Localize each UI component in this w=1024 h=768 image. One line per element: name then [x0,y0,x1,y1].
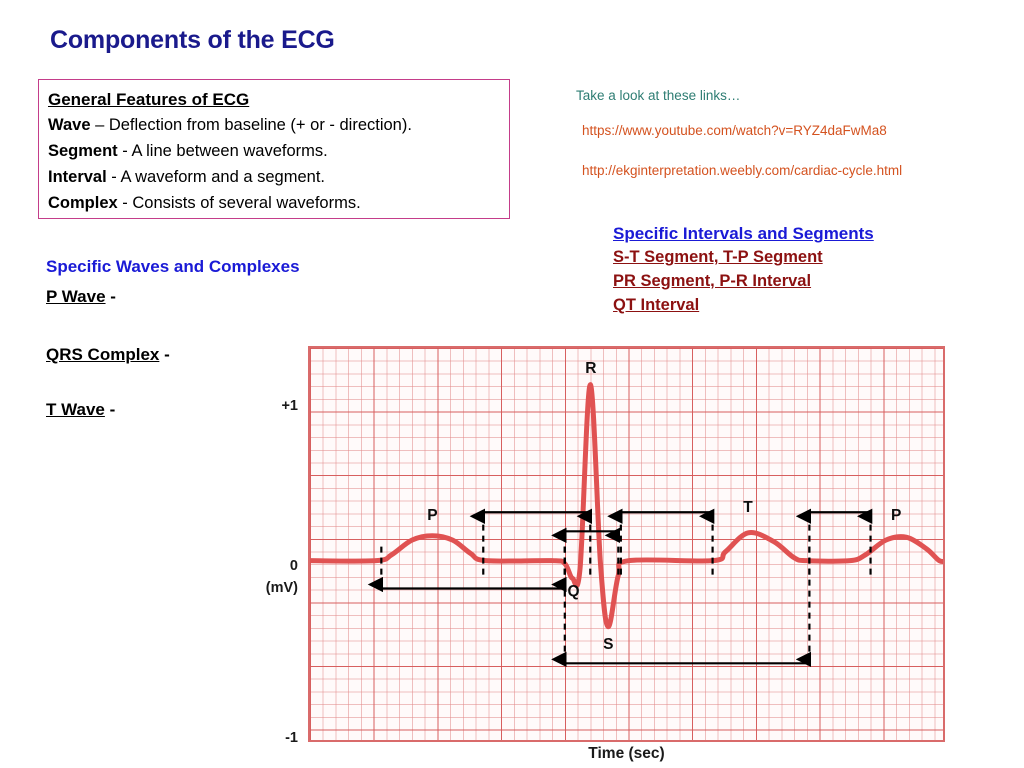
general-features-row: Wave – Deflection from baseline (+ or - … [48,113,509,139]
feature-definition: - A waveform and a segment. [107,168,325,186]
feature-definition: - Consists of several waveforms. [118,194,361,212]
ecg-trace-svg [310,348,945,742]
y-axis-tick-zero: 0 [260,558,298,574]
general-features-row: Segment - A line between waveforms. [48,139,509,165]
wave-letter-r: R [585,360,596,378]
general-features-row: Complex - Consists of several waveforms. [48,191,509,217]
y-axis-unit-label: (mV) [256,580,298,596]
ecg-waveform-path [310,385,945,627]
external-link-youtube[interactable]: https://www.youtube.com/watch?v=RYZ4daFw… [582,123,887,138]
ecg-chart: +1 0 (mV) -1 PRQSTP Time (sec) [260,340,960,768]
wave-letter-q: Q [567,583,579,601]
wave-letter-s: S [603,636,613,654]
feature-term: Interval [48,168,107,186]
wave-letter-p: P [427,507,437,525]
wave-item-qrs-complex: QRS Complex - [46,345,170,365]
specific-intervals-heading: Specific Intervals and Segments [613,222,874,246]
wave-item-term: P Wave [46,287,106,306]
wave-letter-t: T [743,499,752,517]
general-features-row: Interval - A waveform and a segment. [48,165,509,191]
links-intro-text: Take a look at these links… [576,88,740,103]
y-axis-tick-minus-one: -1 [260,730,298,746]
wave-item-suffix: - [106,287,116,306]
interval-item: S-T Segment, T-P Segment [613,246,874,270]
specific-intervals-block: Specific Intervals and Segments S-T Segm… [613,222,874,317]
wave-item-term: T Wave [46,400,105,419]
interval-item: PR Segment, P-R Interval [613,270,874,294]
interval-item-label: PR Segment, P-R Interval [613,272,811,290]
feature-term: Wave [48,116,91,134]
general-features-box: General Features of ECG Wave – Deflectio… [38,79,510,219]
feature-term: Complex [48,194,118,212]
x-axis-label: Time (sec) [308,745,945,763]
interval-item-label: QT Interval [613,296,699,314]
general-features-heading: General Features of ECG [48,87,509,113]
ecg-grid: PRQSTP [308,346,945,742]
external-link-ekginterpretation[interactable]: http://ekginterpretation.weebly.com/card… [582,163,902,178]
page-title: Components of the ECG [50,26,335,55]
feature-definition: - A line between waveforms. [118,142,328,160]
wave-item-term: QRS Complex [46,345,159,364]
specific-waves-heading: Specific Waves and Complexes [46,257,300,277]
feature-definition: – Deflection from baseline (+ or - direc… [91,116,412,134]
y-axis-tick-plus-one: +1 [260,398,298,414]
measurement-brackets [381,512,870,663]
interval-item-label: S-T Segment, T-P Segment [613,248,823,266]
wave-item-t-wave: T Wave - [46,400,115,420]
wave-letter-p: P [891,507,901,525]
wave-item-suffix: - [159,345,169,364]
wave-item-p-wave: P Wave - [46,287,116,307]
wave-item-suffix: - [105,400,115,419]
interval-item: QT Interval [613,294,874,318]
feature-term: Segment [48,142,118,160]
